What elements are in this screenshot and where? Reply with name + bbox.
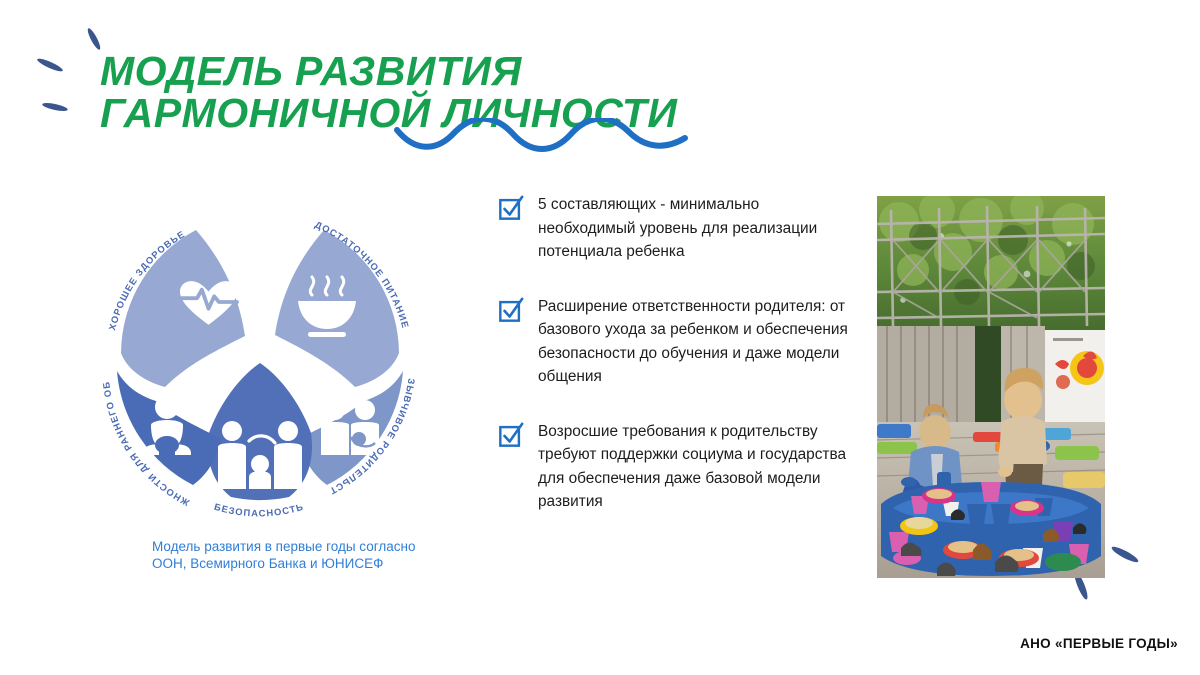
label-safety: БЕЗОПАСНОСТЬ	[213, 501, 305, 519]
list-item: Возросшие требования к родительству треб…	[498, 420, 853, 514]
checkbox-checked-icon	[498, 422, 524, 448]
checkbox-checked-icon	[498, 195, 524, 221]
title-line-1: МОДЕЛЬ РАЗВИТИЯ	[100, 50, 720, 92]
brand-footer: АНО «ПЕРВЫЕ ГОДЫ»	[1020, 636, 1178, 651]
checkbox-checked-icon	[498, 297, 524, 323]
development-model-diagram: ХОРОШЕЕ ЗДОРОВЬЕ ДОСТАТОЧНОЕ ПИТАНИЕ ОТЗ…	[75, 165, 445, 525]
list-item-text: Возросшие требования к родительству треб…	[538, 420, 853, 514]
slide: МОДЕЛЬ РАЗВИТИЯ ГАРМОНИЧНОЙ ЛИЧНОСТИ	[0, 0, 1200, 675]
list-item: 5 составляющих - минимально необходимый …	[498, 193, 853, 264]
diagram-caption: Модель развития в первые годы согласно О…	[152, 538, 422, 572]
list-item-text: 5 составляющих - минимально необходимый …	[538, 193, 853, 264]
decor-dash-icon	[1110, 544, 1140, 564]
list-item: Расширение ответственности родителя: от …	[498, 295, 853, 389]
photo-children-playing	[877, 196, 1105, 578]
decor-dash-icon	[42, 101, 69, 112]
decor-dash-icon	[36, 57, 64, 74]
bullet-list: 5 составляющих - минимально необходимый …	[498, 193, 853, 545]
title-underline-wave	[393, 118, 693, 157]
list-item-text: Расширение ответственности родителя: от …	[538, 295, 853, 389]
